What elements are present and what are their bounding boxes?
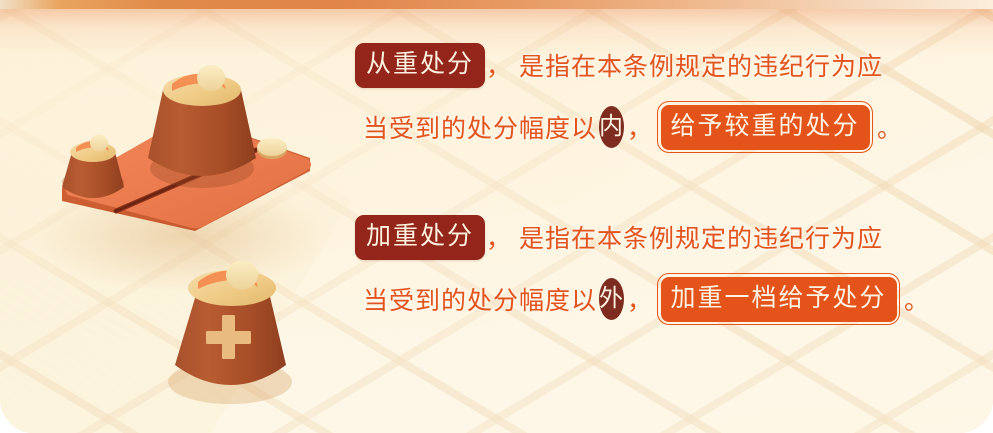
- action-tag-gei-yu-jiao-zhong-de-chu-fen: 给予较重的处分: [657, 101, 873, 153]
- paragraph-1-line-1: 从重处分 ， 是指在本条例规定的违纪行为应: [355, 34, 900, 96]
- period-1: 。: [876, 109, 904, 145]
- paragraph-1-line-2-text: 当受到的处分幅度以: [363, 109, 597, 145]
- term-tag-jia-zhong-chu-fen: 加重处分: [355, 215, 485, 260]
- comma-1: ，: [485, 47, 513, 83]
- large-weight: [148, 65, 256, 188]
- text-column: 从重处分 ， 是指在本条例规定的违纪行为应 当受到的处分幅度以 内 ， 给予较重…: [355, 34, 900, 330]
- top-orange-strip: [0, 0, 993, 9]
- action-tag-label-1: 给予较重的处分: [661, 105, 870, 150]
- paragraph-2-line-1-text: 是指在本条例规定的违纪行为应: [519, 219, 883, 255]
- paragraph-1-line-1-text: 是指在本条例规定的违纪行为应: [519, 47, 883, 83]
- paragraph-2-line-2: 当受到的处分幅度以 外 ， 加重一档给予处分 。: [355, 268, 900, 330]
- action-tag-jia-zhong-yi-dang-gei-yu-chu-fen: 加重一档给予处分: [657, 273, 900, 325]
- small-weight: [62, 135, 124, 199]
- slider-knob: [257, 138, 287, 159]
- infographic-canvas: 从重处分 ， 是指在本条例规定的违纪行为应 当受到的处分幅度以 内 ， 给予较重…: [0, 0, 993, 433]
- isometric-scale-illustration: [20, 40, 400, 410]
- paragraph-2-line-2-text: 当受到的处分幅度以: [363, 281, 597, 317]
- paragraph-jia-zhong-chu-fen: 加重处分 ， 是指在本条例规定的违纪行为应 当受到的处分幅度以 外 ， 加重一档…: [355, 206, 900, 330]
- comma-3: ，: [485, 219, 513, 255]
- period-2: 。: [903, 281, 931, 317]
- term-tag-cong-zhong-chu-fen: 从重处分: [355, 43, 485, 88]
- paragraph-cong-zhong-chu-fen: 从重处分 ， 是指在本条例规定的违纪行为应 当受到的处分幅度以 内 ， 给予较重…: [355, 34, 900, 158]
- paragraph-2-line-1: 加重处分 ， 是指在本条例规定的违纪行为应: [355, 206, 900, 268]
- comma-2: ，: [626, 109, 654, 145]
- paragraph-1-line-2: 当受到的处分幅度以 内 ， 给予较重的处分 。: [355, 96, 900, 158]
- action-tag-label-2: 加重一档给予处分: [661, 277, 897, 322]
- comma-4: ，: [626, 281, 654, 317]
- badge-wai: 外: [599, 278, 624, 320]
- badge-nei: 内: [599, 106, 624, 148]
